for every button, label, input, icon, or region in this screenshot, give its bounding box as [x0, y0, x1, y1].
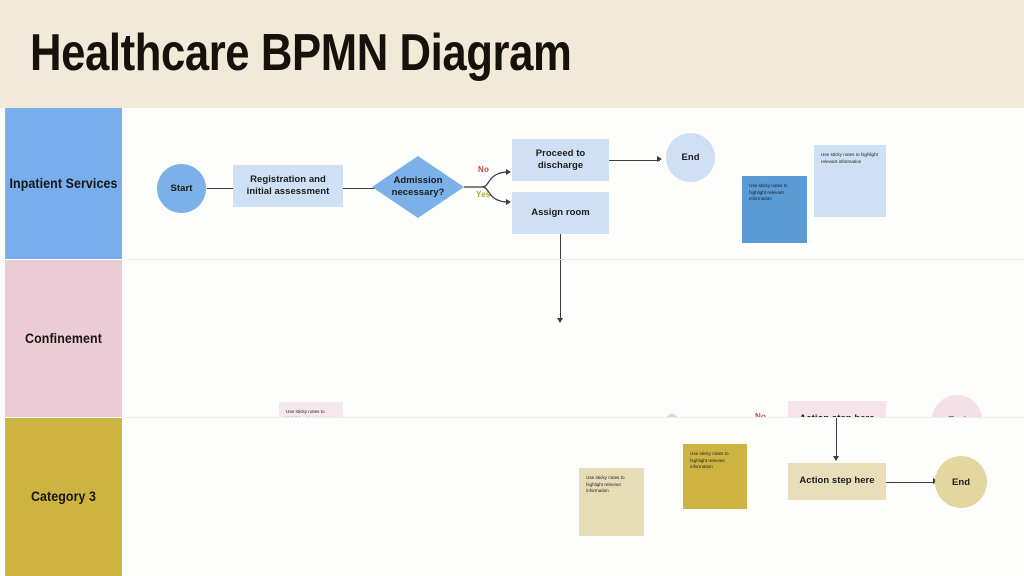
sticky-note-text: Use sticky notes to highlight relevant i…: [690, 451, 729, 469]
sticky-note-text: Use sticky notes to highlight relevant i…: [749, 183, 788, 201]
lane-label-text: Confinement: [25, 330, 102, 348]
arrowhead-admission-no: [506, 169, 511, 175]
arrowhead-into-action-category3: [833, 456, 839, 461]
arrowhead-into-checkup: [557, 318, 563, 323]
edge-assign-room-down: [560, 234, 561, 259]
node-proceed-to-discharge[interactable]: Proceed to discharge: [512, 139, 609, 181]
lane-label-text: Inpatient Services: [10, 175, 118, 193]
lane-body-inpatient-services: Start Registration and initial assessmen…: [127, 108, 1024, 259]
node-start-label: Start: [171, 183, 193, 194]
node-end-category3-label: End: [952, 477, 970, 488]
node-registration-and-initial-assessment[interactable]: Registration and initial assessment: [233, 165, 343, 207]
node-action-step-category3-label: Action step here: [799, 475, 874, 488]
lane-body-confinement: Comprehensive checkup and labwork Assign…: [127, 260, 1024, 417]
sticky-note-text: Use sticky notes to highlight relevant i…: [821, 152, 878, 164]
node-assign-room-label: Assign room: [531, 207, 590, 220]
swimlane-inpatient-services: Inpatient Services Start Registration an…: [0, 108, 1024, 259]
sticky-note-category3-light[interactable]: Use sticky notes to highlight relevant i…: [579, 468, 644, 536]
node-end-inpatient-label: End: [681, 152, 699, 163]
node-admission-necessary-gateway[interactable]: Admission necessary?: [372, 156, 464, 218]
lane-label-text: Category 3: [31, 488, 96, 506]
node-action-step-category3[interactable]: Action step here: [788, 463, 886, 500]
lane-label-inpatient-services: Inpatient Services: [5, 108, 122, 259]
node-end-category3[interactable]: End: [935, 456, 987, 508]
arrowhead-admission-yes: [506, 199, 511, 205]
sticky-note-inpatient-light[interactable]: Use sticky notes to highlight relevant i…: [814, 145, 886, 217]
swimlane-category-3: Category 3 Action step here End: [0, 418, 1024, 576]
node-end-inpatient[interactable]: End: [666, 133, 715, 182]
node-registration-label: Registration and initial assessment: [239, 174, 337, 199]
branch-label-no-admission: No: [478, 165, 489, 174]
lane-label-confinement: Confinement: [5, 260, 122, 417]
page-title: Healthcare BPMN Diagram: [30, 22, 571, 84]
edge-into-checkup: [560, 260, 561, 320]
edge-discharge-to-end: [609, 160, 660, 161]
branch-label-yes-admission: Yes: [476, 190, 490, 199]
node-proceed-to-discharge-label: Proceed to discharge: [518, 148, 603, 173]
node-assign-room[interactable]: Assign room: [512, 192, 609, 234]
lane-label-category-3: Category 3: [5, 418, 122, 576]
node-admission-gateway-label: Admission necessary?: [372, 175, 464, 200]
swimlane-confinement: Confinement Comprehensive checkup and la…: [0, 260, 1024, 417]
lane-body-category-3: Action step here End Use sticky notes to…: [127, 418, 1024, 576]
sticky-note-category3-dark[interactable]: Use sticky notes to highlight relevant i…: [683, 444, 747, 509]
bpmn-diagram-page: Healthcare BPMN Diagram Inpatient Servic…: [0, 0, 1024, 576]
node-start[interactable]: Start: [157, 164, 206, 213]
arrowhead-discharge-to-end: [657, 156, 662, 162]
edge-into-action-category3: [836, 418, 837, 458]
diagram-canvas: Inpatient Services Start Registration an…: [0, 108, 1024, 576]
sticky-note-inpatient-dark[interactable]: Use sticky notes to highlight relevant i…: [742, 176, 807, 243]
sticky-note-text: Use sticky notes to highlight relevant i…: [586, 475, 625, 493]
edge-action-to-end-category3: [886, 482, 936, 483]
page-header: Healthcare BPMN Diagram: [0, 0, 1024, 108]
